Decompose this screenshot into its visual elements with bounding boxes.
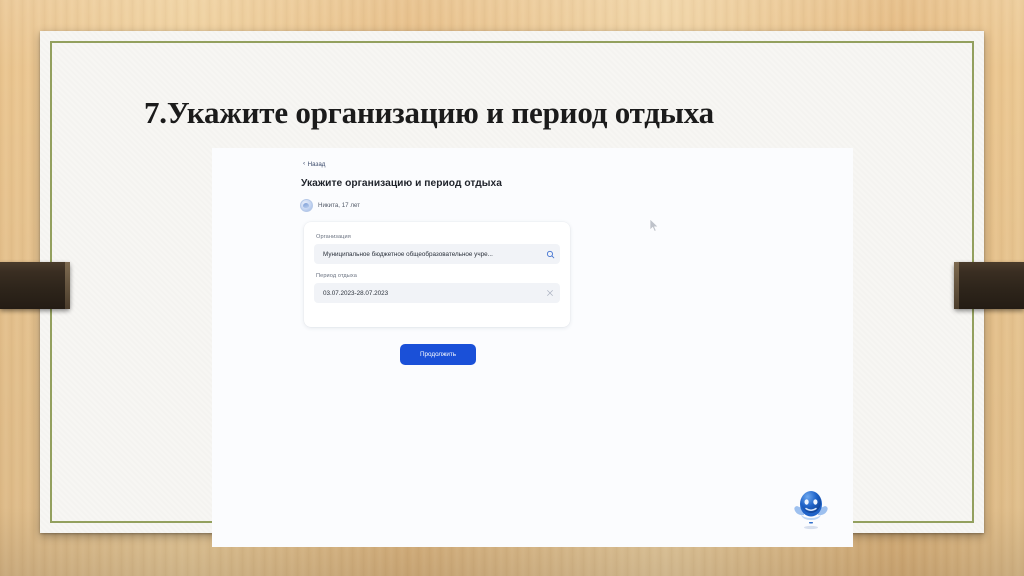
organization-field-label: Организация	[316, 234, 351, 240]
user-avatar-icon	[300, 199, 313, 212]
organization-input[interactable]: Муниципальное бюджетное общеобразователь…	[314, 244, 560, 264]
period-input[interactable]: 03.07.2023-28.07.2023	[314, 283, 560, 303]
decorative-right-bar	[954, 262, 1024, 309]
back-link-label: Назад	[308, 161, 326, 168]
page-title: 7.Укажите организацию и период отдыха	[144, 95, 714, 131]
period-input-value: 03.07.2023-28.07.2023	[314, 290, 540, 297]
robot-assistant-icon[interactable]	[791, 487, 831, 531]
form-card: Организация Муниципальное бюджетное обще…	[304, 222, 570, 327]
search-icon[interactable]	[540, 244, 560, 264]
period-field-label: Период отдыха	[316, 273, 357, 279]
continue-button[interactable]: Продолжить	[400, 344, 476, 365]
presentation-slide-canvas: 7.Укажите организацию и период отдыха ‹ …	[0, 0, 1024, 576]
organization-input-value: Муниципальное бюджетное общеобразователь…	[314, 251, 540, 258]
back-link[interactable]: ‹ Назад	[303, 161, 325, 168]
decorative-left-bar	[0, 262, 70, 309]
close-icon[interactable]	[540, 283, 560, 303]
mouse-pointer-icon	[649, 218, 660, 233]
embedded-screenshot: ‹ Назад Укажите организацию и период отд…	[212, 148, 853, 547]
user-info-row: Никита, 17 лет	[300, 199, 360, 212]
chevron-left-icon: ‹	[303, 161, 305, 168]
form-heading: Укажите организацию и период отдыха	[301, 178, 502, 189]
user-name-label: Никита, 17 лет	[318, 202, 360, 209]
slide-sheet: 7.Укажите организацию и период отдыха ‹ …	[40, 31, 984, 533]
